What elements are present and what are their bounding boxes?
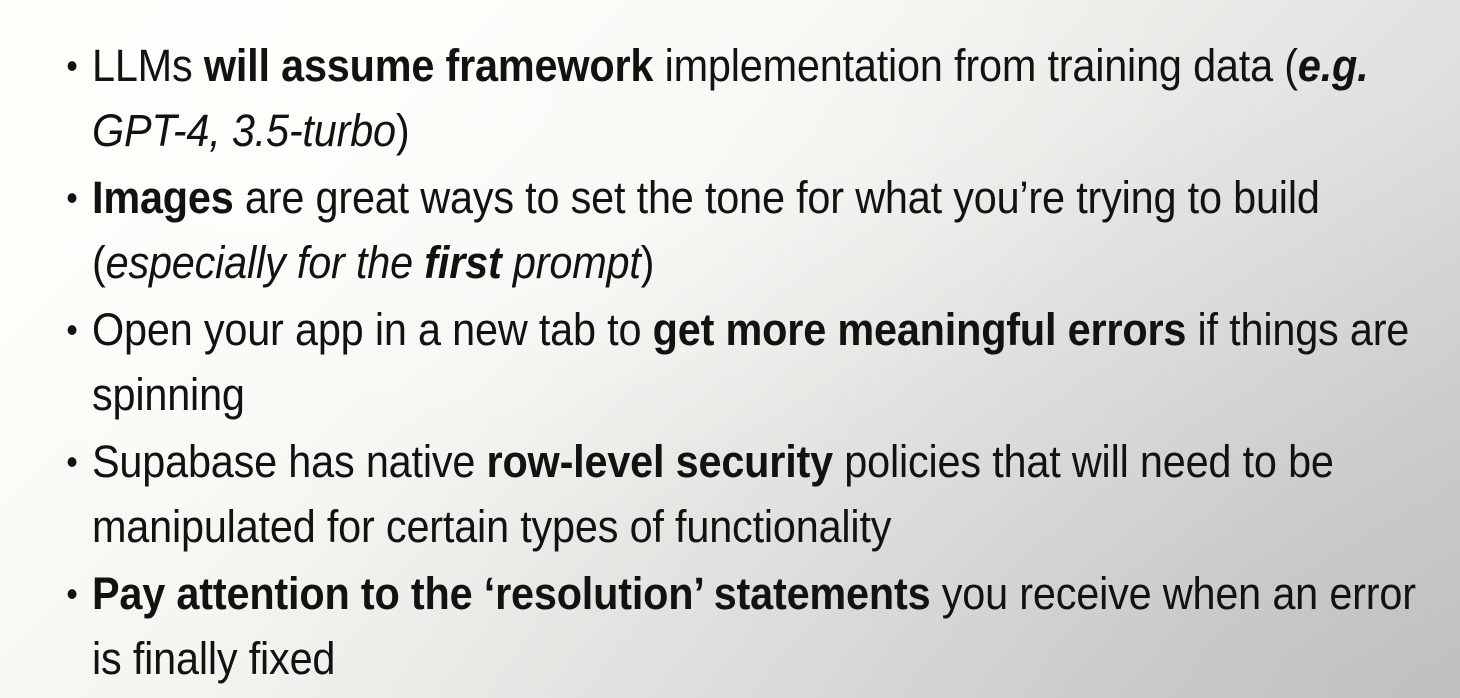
bullet-text: Supabase has native row-level security p… bbox=[92, 436, 1334, 552]
bullet-marker-icon: • bbox=[66, 33, 86, 98]
bullet-text: Images are great ways to set the tone fo… bbox=[92, 172, 1320, 288]
presentation-slide: • LLMs will assume framework implementat… bbox=[0, 0, 1460, 698]
list-item: • Images are great ways to set the tone … bbox=[0, 165, 1435, 295]
bullet-marker-icon: • bbox=[66, 561, 86, 626]
list-item: • Supabase has native row-level security… bbox=[0, 429, 1435, 559]
list-item: • Open your app in a new tab to get more… bbox=[0, 297, 1435, 427]
bullet-marker-icon: • bbox=[66, 165, 86, 230]
list-item: • Pay attention to the ‘resolution’ stat… bbox=[0, 561, 1435, 691]
bullet-text: LLMs will assume framework implementatio… bbox=[92, 40, 1368, 156]
bullet-marker-icon: • bbox=[66, 297, 86, 362]
bullet-text: Open your app in a new tab to get more m… bbox=[92, 304, 1409, 420]
bullet-text: Pay attention to the ‘resolution’ statem… bbox=[92, 568, 1416, 684]
list-item: • LLMs will assume framework implementat… bbox=[0, 33, 1435, 163]
bullet-marker-icon: • bbox=[66, 429, 86, 494]
bullet-list: • LLMs will assume framework implementat… bbox=[0, 33, 1460, 693]
